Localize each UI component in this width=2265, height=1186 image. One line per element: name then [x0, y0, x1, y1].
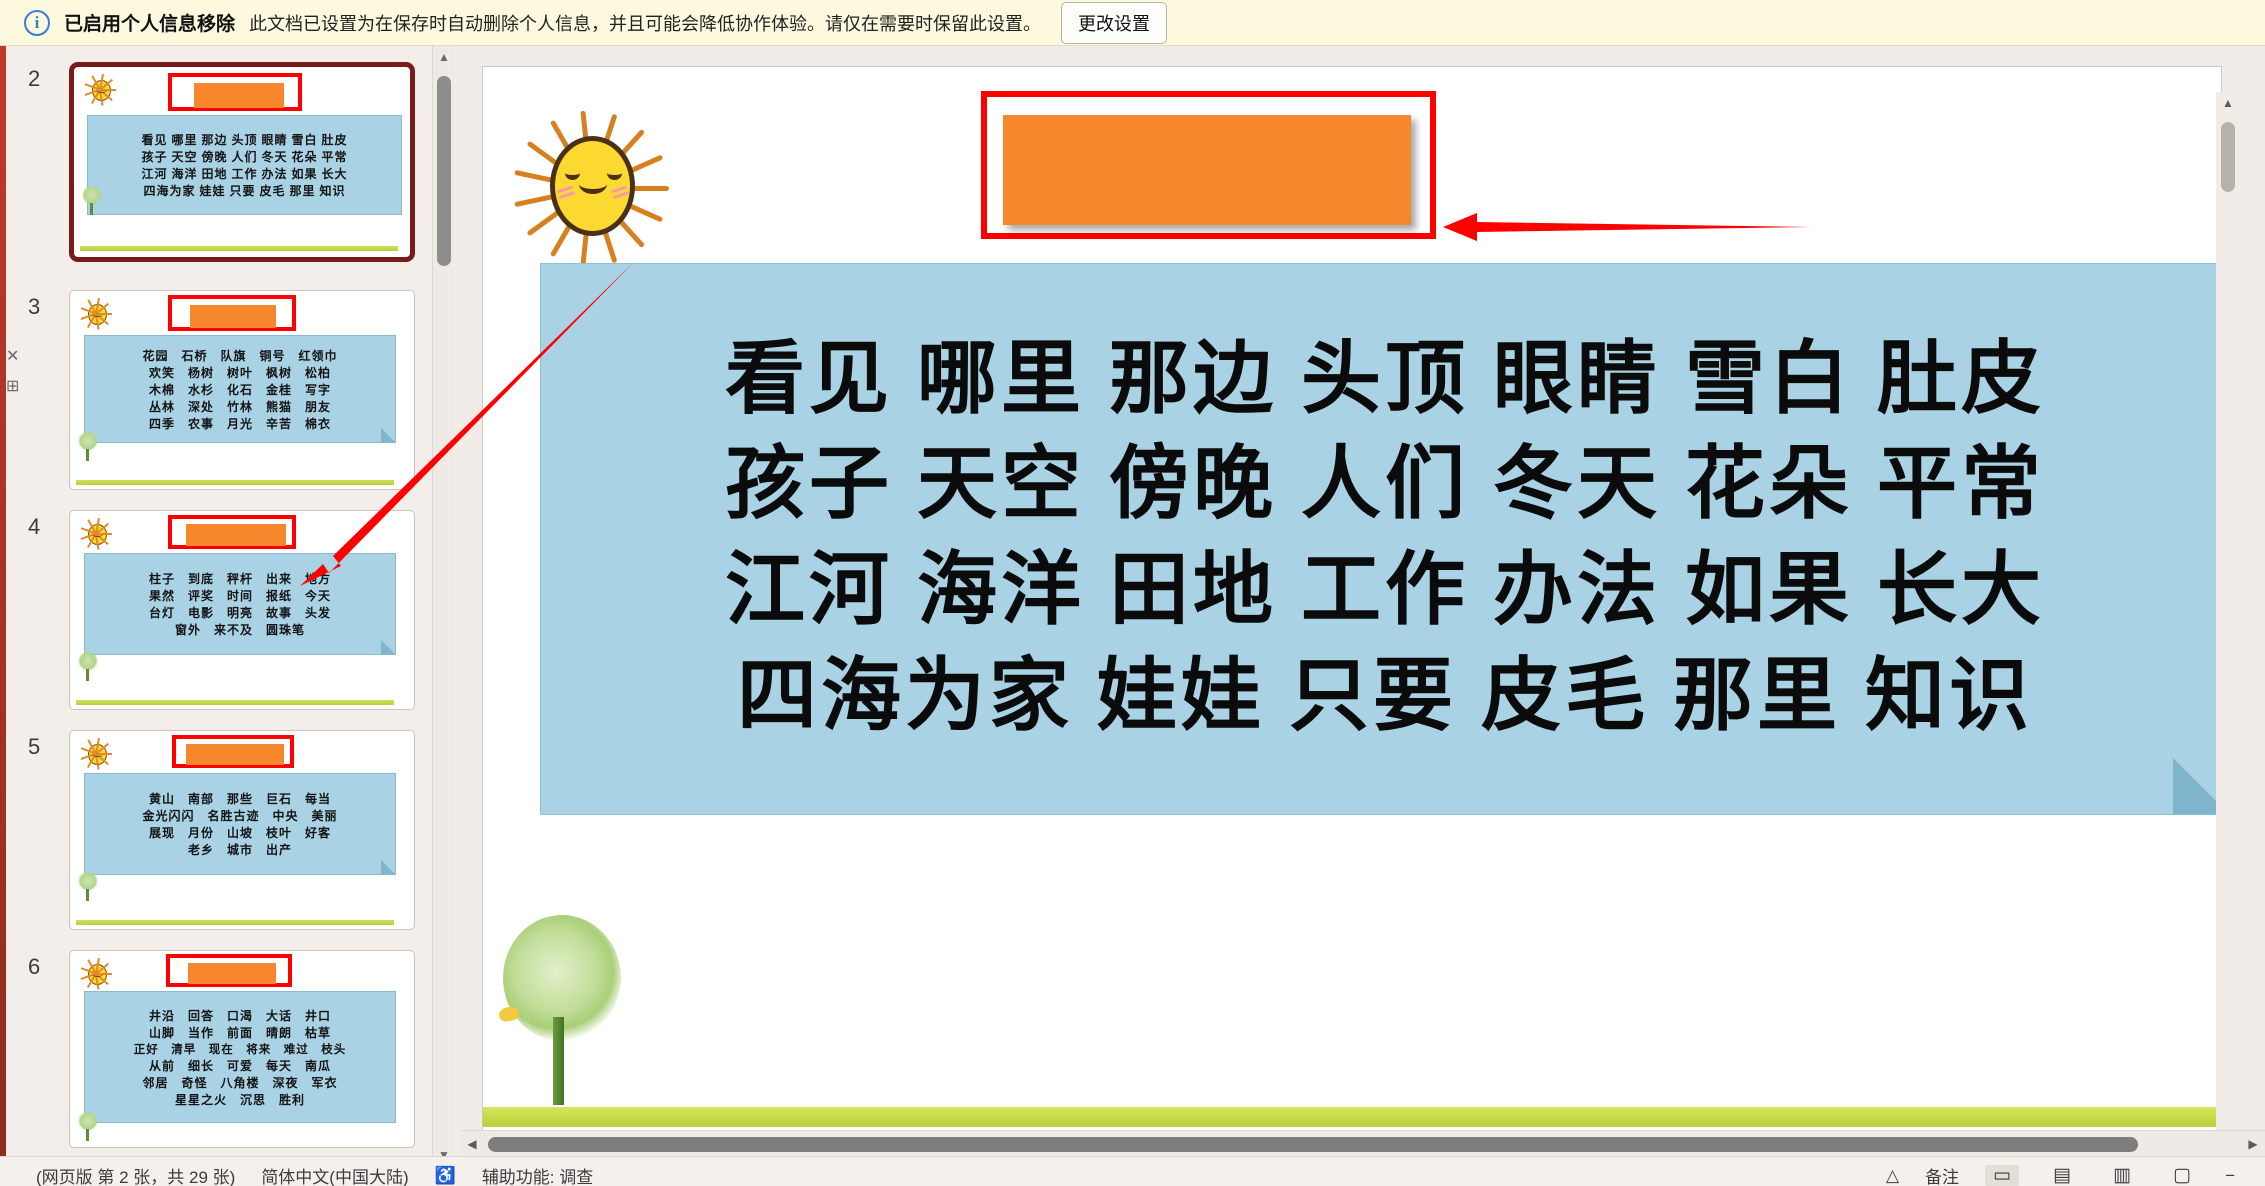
canvas-horizontal-scroll-thumb[interactable]: [488, 1137, 2138, 1152]
sun-icon: [84, 73, 118, 107]
accessibility-icon: ♿: [435, 1166, 456, 1186]
title-placeholder[interactable]: [194, 83, 284, 108]
word-line-4: 四海为家 娃娃 只要 皮毛 那里 知识: [541, 645, 2222, 751]
sun-icon: [80, 517, 114, 551]
slide-thumbnail-pane[interactable]: ✕ ⊞ 2 看见 哪里 那边 头顶 眼睛 雪白 肚皮: [6, 46, 454, 1166]
status-bar-right-group: △ 备注 ▭ ▤ ▥ ▢ −: [1886, 1163, 2235, 1186]
slideshow-view-icon: ▢: [2173, 1166, 2191, 1185]
thumbnail-row-3[interactable]: 3 花园 石桥 队旗 铜号 红领巾 欢笑 杨树 树叶 枫树 松柏: [6, 290, 436, 502]
title-highlight-box: [168, 295, 296, 331]
notification-title: 已启用个人信息移除: [64, 9, 235, 36]
slide-number-3: 3: [28, 294, 40, 320]
slide-thumbnail-6[interactable]: 井沿 回答 口渴 大话 井口 山脚 当作 前面 晴朗 枯草 正好 清早 现在 将…: [69, 950, 415, 1148]
annotation-highlight-rectangle: [981, 91, 1436, 239]
word-line: 看见 哪里 那边 头顶 眼睛 雪白 肚皮: [141, 131, 347, 148]
sun-icon: [503, 102, 678, 262]
change-settings-button[interactable]: 更改设置: [1061, 2, 1167, 44]
word-line: 井沿 回答 口渴 大话 井口: [149, 1007, 331, 1024]
title-highlight-box: [168, 515, 296, 549]
tree-icon: [74, 871, 102, 901]
title-placeholder[interactable]: [1003, 115, 1411, 225]
word-line: 欢笑 杨树 树叶 枫树 松柏: [149, 364, 331, 381]
annotation-arrow-right: [1443, 207, 1811, 247]
word-panel: 黄山 南部 那些 巨石 每当 金光闪闪 名胜古迹 中央 美丽 展现 月份 山坡 …: [84, 773, 396, 875]
sun-icon: [80, 737, 114, 771]
slide-thumbnail-5[interactable]: 黄山 南部 那些 巨石 每当 金光闪闪 名胜古迹 中央 美丽 展现 月份 山坡 …: [69, 730, 415, 930]
word-line: 山脚 当作 前面 晴朗 枯草: [149, 1024, 331, 1041]
title-highlight-box: [166, 954, 292, 987]
word-panel: 井沿 回答 口渴 大话 井口 山脚 当作 前面 晴朗 枯草 正好 清早 现在 将…: [84, 991, 396, 1123]
tree-icon: [74, 651, 102, 681]
word-line: 展现 月份 山坡 枝叶 好客: [149, 824, 331, 841]
notes-icon[interactable]: △: [1886, 1166, 1899, 1186]
slide-number-2: 2: [28, 66, 40, 92]
word-line: 木棉 水杉 化石 金桂 写字: [149, 381, 331, 398]
panel-fold-corner: [2173, 758, 2222, 814]
slide-sorter-view-button[interactable]: ▤: [2045, 1165, 2079, 1186]
language-label[interactable]: 简体中文(中国大陆): [261, 1163, 408, 1186]
slide-thumbnail-3[interactable]: 花园 石桥 队旗 铜号 红领巾 欢笑 杨树 树叶 枫树 松柏 木棉 水杉 化石 …: [69, 290, 415, 490]
slide-count-label: (网页版 第 2 张，共 29 张): [36, 1163, 235, 1186]
thumbnail-row-4[interactable]: 4 柱子 到底 秤杆 出来 地方 果然 评奖 时间 报纸 今天: [6, 510, 436, 722]
word-panel: 花园 石桥 队旗 铜号 红领巾 欢笑 杨树 树叶 枫树 松柏 木棉 水杉 化石 …: [84, 335, 396, 443]
reading-view-button[interactable]: ▥: [2105, 1165, 2139, 1186]
word-line: 江河 海洋 田地 工作 办法 如果 长大: [141, 165, 347, 182]
status-bar: (网页版 第 2 张，共 29 张) 简体中文(中国大陆) ♿ 辅助功能: 调查…: [0, 1156, 2265, 1186]
sun-icon: [80, 957, 114, 991]
word-line: 孩子 天空 傍晚 人们 冬天 花朵 平常: [141, 148, 347, 165]
tree-icon: [74, 431, 102, 461]
title-placeholder[interactable]: [190, 305, 276, 328]
word-line: 黄山 南部 那些 巨石 每当: [149, 790, 331, 807]
slide-thumbnail-2[interactable]: 看见 哪里 那边 头顶 眼睛 雪白 肚皮 孩子 天空 傍晚 人们 冬天 花朵 平…: [69, 62, 415, 262]
word-line: 台灯 电影 明亮 故事 头发: [149, 604, 331, 621]
grass-strip: [80, 246, 398, 251]
canvas-scroll-right-icon[interactable]: ▶: [2241, 1131, 2265, 1157]
notification-message: 此文档已设置为在保存时自动删除个人信息，并且可能会降低协作体验。请仅在需要时保留…: [249, 10, 1041, 36]
word-line: 果然 评奖 时间 报纸 今天: [149, 587, 331, 604]
tree-icon: [493, 915, 628, 1105]
panel-fold-corner: [381, 428, 395, 442]
word-line: 星星之火 沉思 胜利: [175, 1091, 305, 1108]
word-line: 丛林 深处 竹林 熊猫 朋友: [149, 398, 331, 415]
canvas-horizontal-scrollbar[interactable]: ◀ ▶: [460, 1130, 2265, 1156]
slide-thumbnail-4[interactable]: 柱子 到底 秤杆 出来 地方 果然 评奖 时间 报纸 今天 台灯 电影 明亮 故…: [69, 510, 415, 710]
title-placeholder[interactable]: [186, 524, 286, 546]
word-line: 窗外 来不及 圆珠笔: [175, 621, 305, 638]
title-highlight-box: [168, 73, 302, 111]
notes-label[interactable]: 备注: [1925, 1163, 1959, 1186]
thumbnail-row-5[interactable]: 5 黄山 南部 那些 巨石 每当 金光闪闪 名胜古迹 中央 美丽: [6, 730, 436, 942]
word-line: 正好 清早 现在 将来 难过 枝头: [134, 1041, 347, 1057]
canvas-vertical-scrollbar[interactable]: ▲ ▼: [2216, 92, 2240, 1177]
word-line-3: 江河 海洋 田地 工作 办法 如果 长大: [541, 539, 2222, 645]
thumbnail-row-6[interactable]: 6 井沿 回答 口渴 大话 井口 山脚 当作 前面 晴朗 枯草: [6, 950, 436, 1162]
thumbnail-row-2[interactable]: 2 看见 哪里 那边 头顶 眼睛 雪白 肚皮 孩子 天空 傍晚 人们 冬: [6, 62, 436, 274]
active-slide[interactable]: 看见 哪里 那边 头顶 眼睛 雪白 肚皮 孩子 天空 傍晚 人们 冬天 花朵 平…: [482, 66, 2222, 1156]
word-line-2: 孩子 天空 傍晚 人们 冬天 花朵 平常: [541, 433, 2222, 539]
normal-view-button[interactable]: ▭: [1985, 1165, 2019, 1186]
word-line: 四海为家 娃娃 只要 皮毛 那里 知识: [143, 182, 345, 199]
word-line: 四季 农事 月光 辛苦 棉衣: [149, 415, 331, 432]
slide-sorter-view-icon: ▤: [2053, 1166, 2071, 1185]
thumbnail-scroll-up-icon[interactable]: ▲: [433, 46, 455, 68]
title-placeholder[interactable]: [186, 744, 284, 765]
sun-icon: [80, 297, 114, 331]
grass-strip: [76, 700, 394, 705]
word-line: 金光闪闪 名胜古迹 中央 美丽: [142, 807, 337, 824]
thumbnail-scroll-thumb[interactable]: [437, 76, 451, 266]
canvas-vertical-scroll-thumb[interactable]: [2221, 122, 2235, 192]
word-panel: 柱子 到底 秤杆 出来 地方 果然 评奖 时间 报纸 今天 台灯 电影 明亮 故…: [84, 553, 396, 655]
zoom-out-button[interactable]: −: [2225, 1166, 2235, 1186]
tree-icon: [78, 185, 106, 215]
slide-number-5: 5: [28, 734, 40, 760]
privacy-notification-bar: i 已启用个人信息移除 此文档已设置为在保存时自动删除个人信息，并且可能会降低协…: [0, 0, 2265, 46]
word-line-1: 看见 哪里 那边 头顶 眼睛 雪白 肚皮: [541, 328, 2222, 434]
panel-fold-corner: [381, 640, 395, 654]
thumbnail-scrollbar[interactable]: ▲ ▼: [432, 46, 454, 1166]
canvas-scroll-left-icon[interactable]: ◀: [460, 1131, 484, 1157]
slide-number-6: 6: [28, 954, 40, 980]
canvas-scroll-up-icon[interactable]: ▲: [2216, 92, 2240, 114]
word-panel: 看见 哪里 那边 头顶 眼睛 雪白 肚皮 孩子 天空 傍晚 人们 冬天 花朵 平…: [87, 115, 402, 215]
title-placeholder[interactable]: [188, 963, 276, 984]
word-line: 老乡 城市 出产: [188, 841, 292, 858]
status-bar-left-group: (网页版 第 2 张，共 29 张) 简体中文(中国大陆) ♿ 辅助功能: 调查: [36, 1163, 593, 1186]
word-line: 柱子 到底 秤杆 出来 地方: [149, 570, 331, 587]
reading-view-icon: ▥: [2113, 1166, 2131, 1185]
slide-number-4: 4: [28, 514, 40, 540]
slide-canvas-pane[interactable]: 看见 哪里 那边 头顶 眼睛 雪白 肚皮 孩子 天空 傍晚 人们 冬天 花朵 平…: [460, 46, 2240, 1156]
grass-strip: [76, 920, 394, 925]
word-line: 花园 石桥 队旗 铜号 红领巾: [142, 347, 337, 364]
normal-view-icon: ▭: [1993, 1166, 2011, 1185]
word-line: 从前 细长 可爱 每天 南瓜: [149, 1057, 331, 1074]
grass-strip: [483, 1107, 2222, 1127]
word-line: 邻居 奇怪 八角楼 深夜 军衣: [142, 1074, 337, 1091]
slideshow-view-button[interactable]: ▢: [2165, 1165, 2199, 1186]
info-icon: i: [24, 10, 50, 36]
tree-icon: [74, 1111, 102, 1141]
accessibility-label[interactable]: 辅助功能: 调查: [482, 1163, 593, 1186]
panel-fold-corner: [381, 860, 395, 874]
word-list-panel[interactable]: 看见 哪里 那边 头顶 眼睛 雪白 肚皮 孩子 天空 傍晚 人们 冬天 花朵 平…: [540, 263, 2222, 815]
title-highlight-box: [172, 735, 294, 768]
grass-strip: [76, 480, 394, 485]
